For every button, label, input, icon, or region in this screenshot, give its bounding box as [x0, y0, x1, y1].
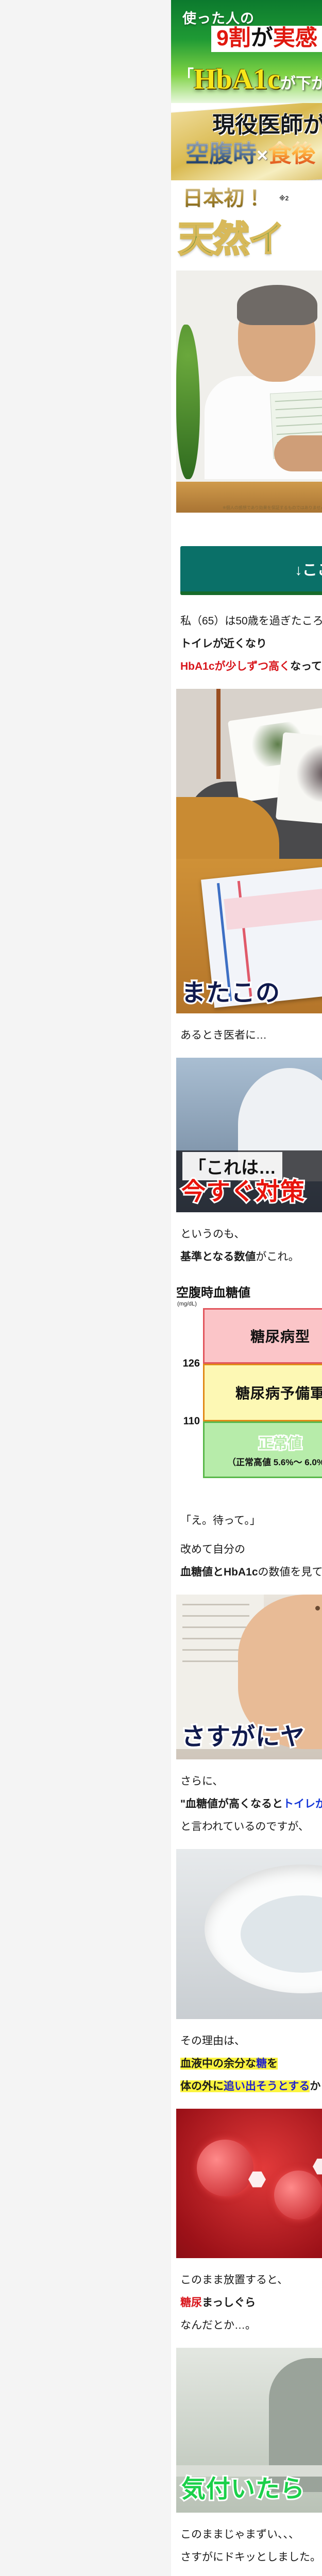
person-hair	[237, 285, 317, 325]
hero-footnote-marker-2: ※2	[279, 195, 289, 202]
body4-values-phrase: 血糖値とHbA1c	[180, 1566, 258, 1578]
body4-line-1: 「え。待って。」	[180, 1512, 322, 1530]
chart-ytick-126: 126	[183, 1358, 200, 1370]
chart-y-unit-label: (mg/dL)	[177, 1301, 322, 1307]
fasting-glucose-chart: 空腹時血糖値 (mg/dL) 126 110 糖尿病型 糖尿病予備軍 正常値 （…	[171, 1279, 322, 1499]
body1-line-3-tail: なってきました	[290, 660, 322, 672]
body6-line-1: その理由は、	[180, 2032, 322, 2050]
hero-line-3: 「HbA1cが下がった」	[178, 63, 322, 96]
hero-hba1c-tail: が下がった」	[280, 75, 322, 92]
body5-line-1: さらに、	[180, 1773, 322, 1790]
hero-bottom-panel: 日本初！ ※2 天然イ	[171, 180, 322, 270]
body-text-2: あるとき医者に…	[171, 1013, 322, 1058]
body6-blood-sugar-highlight: 血液中の余分な糖を	[180, 2058, 278, 2070]
body7-line-1: このまま放置すると、	[180, 2272, 322, 2289]
caption-kizuitara: 気付いたら	[181, 2469, 305, 2504]
chart-zone-prediabetes-label: 糖尿病予備軍	[235, 1382, 322, 1403]
body8-spacer	[180, 2571, 322, 2576]
body6-line-2: 血液中の余分な糖を	[180, 2055, 322, 2073]
body-text-5: さらに、 "血糖値が高くなるとトイレが近 と言われているのですが、	[171, 1759, 322, 1849]
body6-sugar-word: 糖	[256, 2058, 267, 2070]
hero-line-2: 9割が実感	[211, 26, 322, 52]
clinic-video[interactable]: 「これは… 今すぐ対策	[176, 1058, 322, 1212]
hero-percent-number: 9	[216, 26, 229, 50]
blood-cells-video[interactable]	[176, 2109, 322, 2258]
chart-zone-prediabetes: 糖尿病予備軍	[203, 1364, 322, 1421]
body3-standard-value-phrase: 基準となる数値	[180, 1251, 256, 1263]
chart-zone-normal-sublabel: （正常高値 5.6%〜 6.0%）	[227, 1455, 322, 1468]
person-arm-pointing	[274, 435, 322, 471]
hero-postmeal-word: 食後	[268, 140, 315, 167]
chart-zones: 糖尿病型 糖尿病予備軍 正常値 （正常高値 5.6%〜 6.0%）	[203, 1308, 322, 1478]
body8-line-1: このままじゃまずい、、、	[180, 2526, 322, 2544]
video-disclaimer: ※個人の感想であり効果を保証するものではありません	[223, 505, 322, 511]
hero-gold-line-1: 現役医師が	[212, 106, 322, 139]
red-blood-cell	[197, 2140, 253, 2196]
footnotes-block: ※2 機能性関与成分のバナバ葉由来コロソリンさんと ※3 サプリで	[171, 513, 322, 535]
hero-line-1: 使った人の	[182, 7, 255, 27]
chart-y-axis: 126 110	[176, 1308, 203, 1478]
body6-line-2-lead: 血液中の余分な	[180, 2058, 256, 2070]
door-frame	[216, 689, 221, 779]
hero-gold-line-2: 空腹時×食後	[185, 135, 315, 169]
landing-page: 使った人の 9割が実感 「HbA1cが下がった」 現役医師が 空腹時×食後 日本…	[171, 0, 322, 2576]
body7-line-2-tail: まっしぐら	[202, 2297, 256, 2309]
body5-line-2: "血糖値が高くなるとトイレが近	[180, 1795, 322, 1813]
body4-line-3-tail: の数値を見てみると	[258, 1566, 322, 1578]
body4-line-3: 血糖値とHbA1cの数値を見てみると	[180, 1564, 322, 1581]
body5-line-3: と言われているのですが、	[180, 1818, 322, 1836]
hero-tennen-word: 天然イ	[178, 210, 283, 262]
hero-banner: 使った人の 9割が実感 「HbA1cが下がった」 現役医師が 空腹時×食後 日本…	[171, 0, 322, 270]
toilet-video[interactable]	[176, 1849, 322, 2019]
continue-reading-button[interactable]: ↓ここから先	[180, 546, 322, 595]
body1-hba1c-phrase: HbA1cが少しずつ高く	[180, 660, 290, 672]
page-left-gutter	[0, 0, 171, 2576]
body-text-7: このまま放置すると、 糖尿まっしぐら なんだとか…。	[171, 2258, 322, 2348]
hero-fasting-word: 空腹時	[185, 140, 257, 167]
body5-toilet-phrase: トイレが近	[283, 1798, 322, 1810]
body-text-6: その理由は、 血液中の余分な糖を 体の外に追い出そうとするから、	[171, 2019, 322, 2109]
chart-zone-normal: 正常値 （正常高値 5.6%〜 6.0%）	[203, 1421, 322, 1478]
body3-line-2: 基準となる数値がこれ。	[180, 1248, 322, 1266]
chart-title: 空腹時血糖値	[176, 1282, 322, 1300]
body7-diabetes-word: 糖尿	[180, 2297, 202, 2309]
body1-line-1: 私（65）は50歳を過ぎたころから	[180, 613, 322, 630]
body6-line-3: 体の外に追い出そうとするから、	[180, 2078, 322, 2095]
body5-bloodsugar-phrase: "血糖値が高くなると	[180, 1798, 283, 1810]
body6-line-3-lead: 体の外に	[180, 2080, 224, 2092]
hero-hba1c-word: HbA1c	[194, 63, 280, 95]
red-blood-cell	[274, 2171, 322, 2219]
hero-gold-panel: 現役医師が 空腹時×食後	[171, 103, 322, 180]
body1-line-3: HbA1cが少しずつ高くなってきました	[180, 658, 322, 675]
body1-line-2: トイレが近くなり	[180, 635, 322, 653]
caption-mata-kono: またこの	[181, 973, 280, 1008]
cta-container: ↓ここから先	[171, 535, 322, 599]
chart-ytick-110: 110	[183, 1416, 200, 1428]
body8-line-2: さすがにドキッとしました。	[180, 2549, 322, 2566]
body7-line-3: なんだとか…。	[180, 2317, 322, 2334]
hero-particle: が	[251, 26, 273, 50]
living-room-video[interactable]	[176, 689, 322, 859]
footnote-3: ※3 サプリで	[171, 524, 322, 533]
caption-sasuga-ni-ya: さすがにヤ	[181, 1717, 305, 1752]
kitchen-video[interactable]: 気付いたら	[176, 2348, 322, 2513]
body-text-4: 「え。待って。」 改めて自分の 血糖値とHbA1cの数値を見てみると	[171, 1499, 322, 1595]
hero-quote-open: 「	[178, 67, 194, 84]
body7-line-2: 糖尿まっしぐら	[180, 2294, 322, 2312]
hero-green-panel: 使った人の 9割が実感 「HbA1cが下がった」	[171, 0, 322, 103]
chart-plot-area: 126 110 糖尿病型 糖尿病予備軍 正常値 （正常高値 5.6%〜 6.0%…	[176, 1308, 322, 1494]
arm-closeup-video[interactable]: さすがにヤ	[176, 1595, 322, 1759]
body-text-8: このままじゃまずい、、、 さすがにドキッとしました。 帰ったその日から 早速対策…	[171, 2513, 322, 2576]
chart-zone-normal-label: 正常値	[259, 1432, 302, 1453]
body3-line-1: というのも、	[180, 1226, 322, 1243]
body-text-1: 私（65）は50歳を過ぎたころから トイレが近くなり HbA1cが少しずつ高くな…	[171, 599, 322, 689]
caption-ima-sugu-taisaku: 今すぐ対策	[181, 1172, 305, 1207]
hero-cross-symbol: ×	[257, 145, 268, 166]
body4-line-2: 改めて自分の	[180, 1541, 322, 1558]
body6-expel-highlight: 体の外に追い出そうとする	[180, 2080, 310, 2092]
documents-video[interactable]: またこの	[176, 859, 322, 1013]
body-text-3: というのも、 基準となる数値がこれ。	[171, 1212, 322, 1279]
body6-expel-word: 追い出そうとする	[224, 2080, 310, 2092]
footnote-2: ※2 機能性関与成分のバナバ葉由来コロソリンさんと	[171, 516, 322, 524]
hero-percent-unit: 割	[229, 26, 251, 50]
cushion-right	[276, 732, 322, 828]
body6-line-3-tail: から、	[310, 2080, 322, 2092]
body3-line-2-tail: がこれ。	[256, 1251, 299, 1263]
chart-zone-diabetes: 糖尿病型	[203, 1308, 322, 1364]
body2-line-1: あるとき医者に…	[180, 1027, 322, 1044]
hero-line-2-tail: 実感	[273, 26, 317, 50]
doctor-testimonial-video[interactable]: ※個人の感想であり効果を保証するものではありません	[176, 270, 322, 513]
body6-line-2-tail: を	[267, 2058, 278, 2070]
hero-japan-first: 日本初！	[182, 181, 265, 211]
chart-zone-diabetes-label: 糖尿病型	[250, 1326, 310, 1346]
